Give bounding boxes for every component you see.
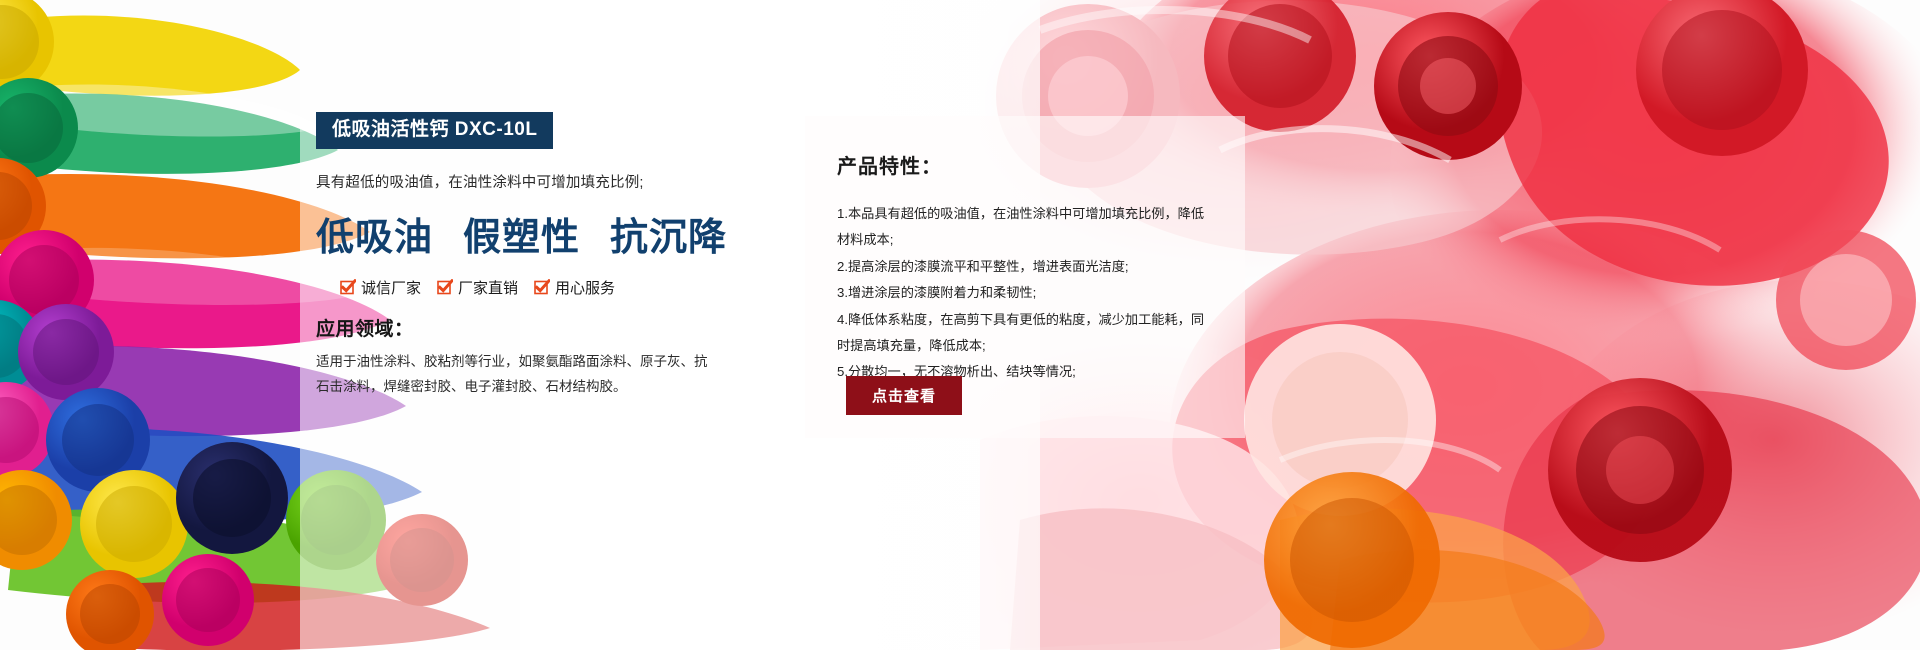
headline-keywords: 低吸油 假塑性 抗沉降 — [316, 206, 736, 261]
panel-feature-item: 4.降低体系粘度，在高剪下具有更低的粘度，减少加工能耗，同时提高填充量，降低成本… — [837, 307, 1215, 360]
feature-check-3: 用心服务 — [534, 277, 615, 298]
checkbox-checked-icon — [534, 279, 550, 295]
feature-check-1: 诚信厂家 — [340, 277, 421, 298]
panel-feature-item: 2.提高涂层的漆膜流平和平整性，增进表面光洁度; — [837, 254, 1215, 280]
feature-check-3-label: 用心服务 — [555, 277, 615, 298]
checkbox-checked-icon — [437, 279, 453, 295]
panel-title: 产品特性： — [837, 150, 1215, 179]
product-subline: 具有超低的吸油值，在油性涂料中可增加填充比例; — [316, 171, 736, 192]
feature-check-2: 厂家直销 — [437, 277, 518, 298]
panel-feature-item: 1.本品具有超低的吸油值，在油性涂料中可增加填充比例，降低材料成本; — [837, 201, 1215, 254]
checkbox-checked-icon — [340, 279, 356, 295]
feature-check-2-label: 厂家直销 — [458, 277, 518, 298]
feature-check-row: 诚信厂家 厂家直销 用心服务 — [316, 277, 736, 298]
application-section-title: 应用领域： — [316, 314, 736, 341]
product-tag: 低吸油活性钙 DXC-10L — [316, 112, 553, 149]
panel-feature-list: 1.本品具有超低的吸油值，在油性涂料中可增加填充比例，降低材料成本; 2.提高涂… — [837, 201, 1215, 386]
headline-word-3: 抗沉降 — [610, 206, 727, 261]
panel-feature-item: 3.增进涂层的漆膜附着力和柔韧性; — [837, 280, 1215, 306]
headline-word-2: 假塑性 — [463, 206, 580, 261]
product-banner: 低吸油活性钙 DXC-10L 具有超低的吸油值，在油性涂料中可增加填充比例; 低… — [0, 0, 1920, 650]
view-details-button[interactable]: 点击查看 — [846, 376, 962, 415]
left-content: 低吸油活性钙 DXC-10L 具有超低的吸油值，在油性涂料中可增加填充比例; 低… — [316, 112, 736, 400]
headline-word-1: 低吸油 — [316, 206, 433, 261]
application-section-body: 适用于油性涂料、胶粘剂等行业，如聚氨酯路面涂料、原子灰、抗石击涂料，焊缝密封胶、… — [316, 350, 716, 400]
feature-check-1-label: 诚信厂家 — [361, 277, 421, 298]
